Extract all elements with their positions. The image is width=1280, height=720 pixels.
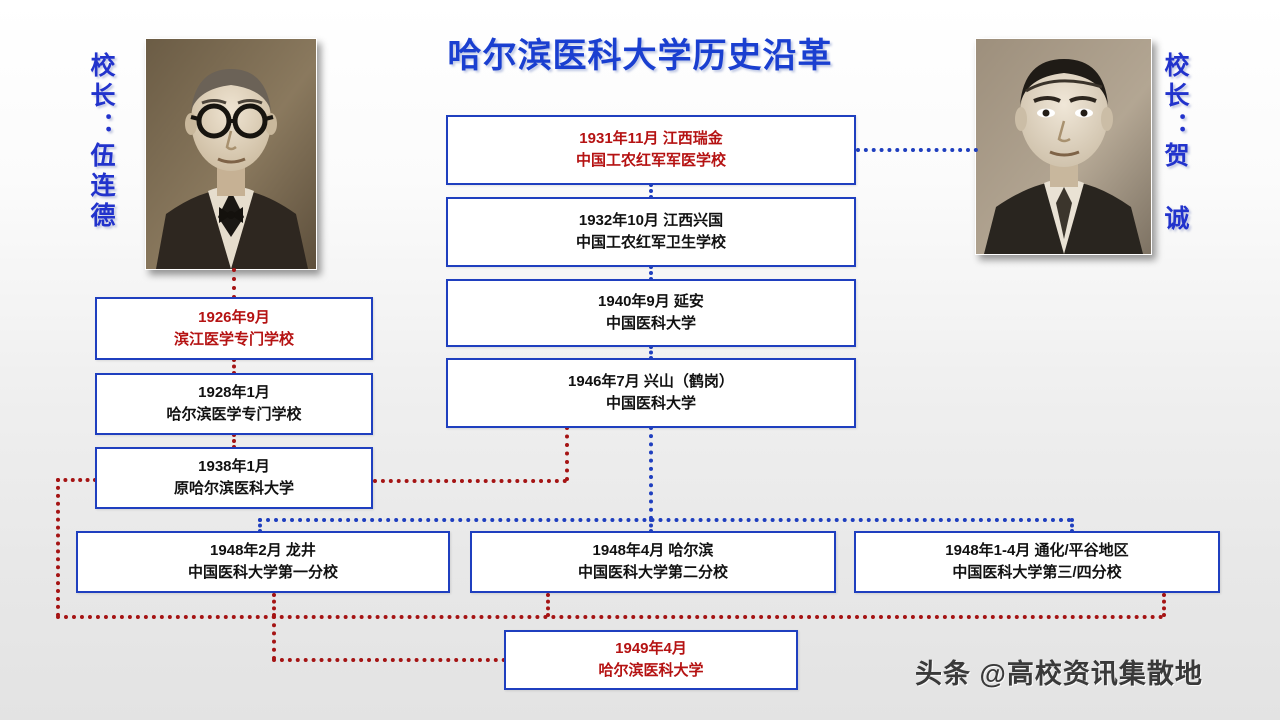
connector-left-rail-down bbox=[56, 478, 60, 617]
node-1938[interactable]: 1938年1月 原哈尔滨医科大学 bbox=[95, 447, 373, 509]
node-1949-line1: 1949年4月 bbox=[615, 638, 687, 660]
node-1940-line1: 1940年9月 延安 bbox=[598, 291, 704, 313]
node-1948-branch2[interactable]: 1948年4月 哈尔滨 中国医科大学第二分校 bbox=[470, 531, 836, 593]
connector-1948a-down bbox=[272, 593, 276, 617]
node-1948b-line2: 中国医科大学第二分校 bbox=[578, 562, 728, 584]
node-1948c-line2: 中国医科大学第三/四分校 bbox=[952, 562, 1121, 584]
connector-into-1949 bbox=[272, 658, 506, 662]
connector-rail-to-1949 bbox=[272, 615, 276, 660]
node-1926-line1: 1926年9月 bbox=[198, 307, 270, 329]
caption-president-right: 校长：贺 诚 bbox=[1162, 52, 1187, 235]
node-1946-line1: 1946年7月 兴山（鹤岗） bbox=[568, 371, 734, 393]
node-1949-line2: 哈尔滨医科大学 bbox=[598, 660, 703, 682]
node-1940[interactable]: 1940年9月 延安 中国医科大学 bbox=[446, 279, 856, 347]
node-1938-line1: 1938年1月 bbox=[198, 456, 270, 478]
connector-1948b-down bbox=[546, 593, 550, 617]
node-1946-line2: 中国医科大学 bbox=[606, 393, 696, 415]
connector-1938-left bbox=[56, 478, 97, 482]
node-1940-line2: 中国医科大学 bbox=[606, 313, 696, 335]
portrait-right-image bbox=[976, 39, 1151, 254]
node-1932-line1: 1932年10月 江西兴国 bbox=[579, 210, 723, 232]
node-1928-line2: 哈尔滨医学专门学校 bbox=[166, 404, 301, 426]
node-1928[interactable]: 1928年1月 哈尔滨医学专门学校 bbox=[95, 373, 373, 435]
node-1948b-line1: 1948年4月 哈尔滨 bbox=[593, 540, 714, 562]
node-1948-branch34[interactable]: 1948年1-4月 通化/平谷地区 中国医科大学第三/四分校 bbox=[854, 531, 1220, 593]
connector-bottom-bus bbox=[258, 518, 1072, 522]
node-1926[interactable]: 1926年9月 滨江医学专门学校 bbox=[95, 297, 373, 360]
connector-right-rail-up bbox=[1162, 593, 1166, 617]
node-1948a-line2: 中国医科大学第一分校 bbox=[188, 562, 338, 584]
timeline-diagram: 哈尔滨医科大学历史沿革 bbox=[0, 0, 1280, 720]
watermark-text: 头条 @高校资讯集散地 bbox=[915, 652, 1203, 691]
node-1949[interactable]: 1949年4月 哈尔滨医科大学 bbox=[504, 630, 798, 690]
node-1928-line1: 1928年1月 bbox=[198, 382, 270, 404]
connector-1946-red-down bbox=[565, 426, 569, 481]
portrait-right bbox=[975, 38, 1152, 255]
connector-1946-down bbox=[649, 426, 653, 520]
node-1932[interactable]: 1932年10月 江西兴国 中国工农红军卫生学校 bbox=[446, 197, 856, 267]
node-1931[interactable]: 1931年11月 江西瑞金 中国工农红军军医学校 bbox=[446, 115, 856, 185]
portrait-left-image bbox=[146, 39, 316, 269]
node-1948-branch1[interactable]: 1948年2月 龙井 中国医科大学第一分校 bbox=[76, 531, 450, 593]
portrait-left bbox=[145, 38, 317, 270]
connector-1931-to-right-portrait bbox=[856, 148, 978, 152]
node-1926-line2: 滨江医学专门学校 bbox=[174, 329, 294, 351]
node-1948c-line1: 1948年1-4月 通化/平谷地区 bbox=[945, 540, 1128, 562]
connector-left-portrait-to-1926 bbox=[232, 268, 236, 299]
node-1931-line1: 1931年11月 江西瑞金 bbox=[579, 128, 722, 150]
connector-1946-red-left bbox=[373, 479, 567, 483]
node-1932-line2: 中国工农红军卫生学校 bbox=[576, 232, 726, 254]
node-1938-line2: 原哈尔滨医科大学 bbox=[174, 478, 294, 500]
node-1948a-line1: 1948年2月 龙井 bbox=[210, 540, 316, 562]
node-1946[interactable]: 1946年7月 兴山（鹤岗） 中国医科大学 bbox=[446, 358, 856, 428]
node-1931-line2: 中国工农红军军医学校 bbox=[576, 150, 726, 172]
caption-president-left: 校长：伍连德 bbox=[88, 52, 113, 232]
connector-bottom-rail bbox=[56, 615, 1164, 619]
